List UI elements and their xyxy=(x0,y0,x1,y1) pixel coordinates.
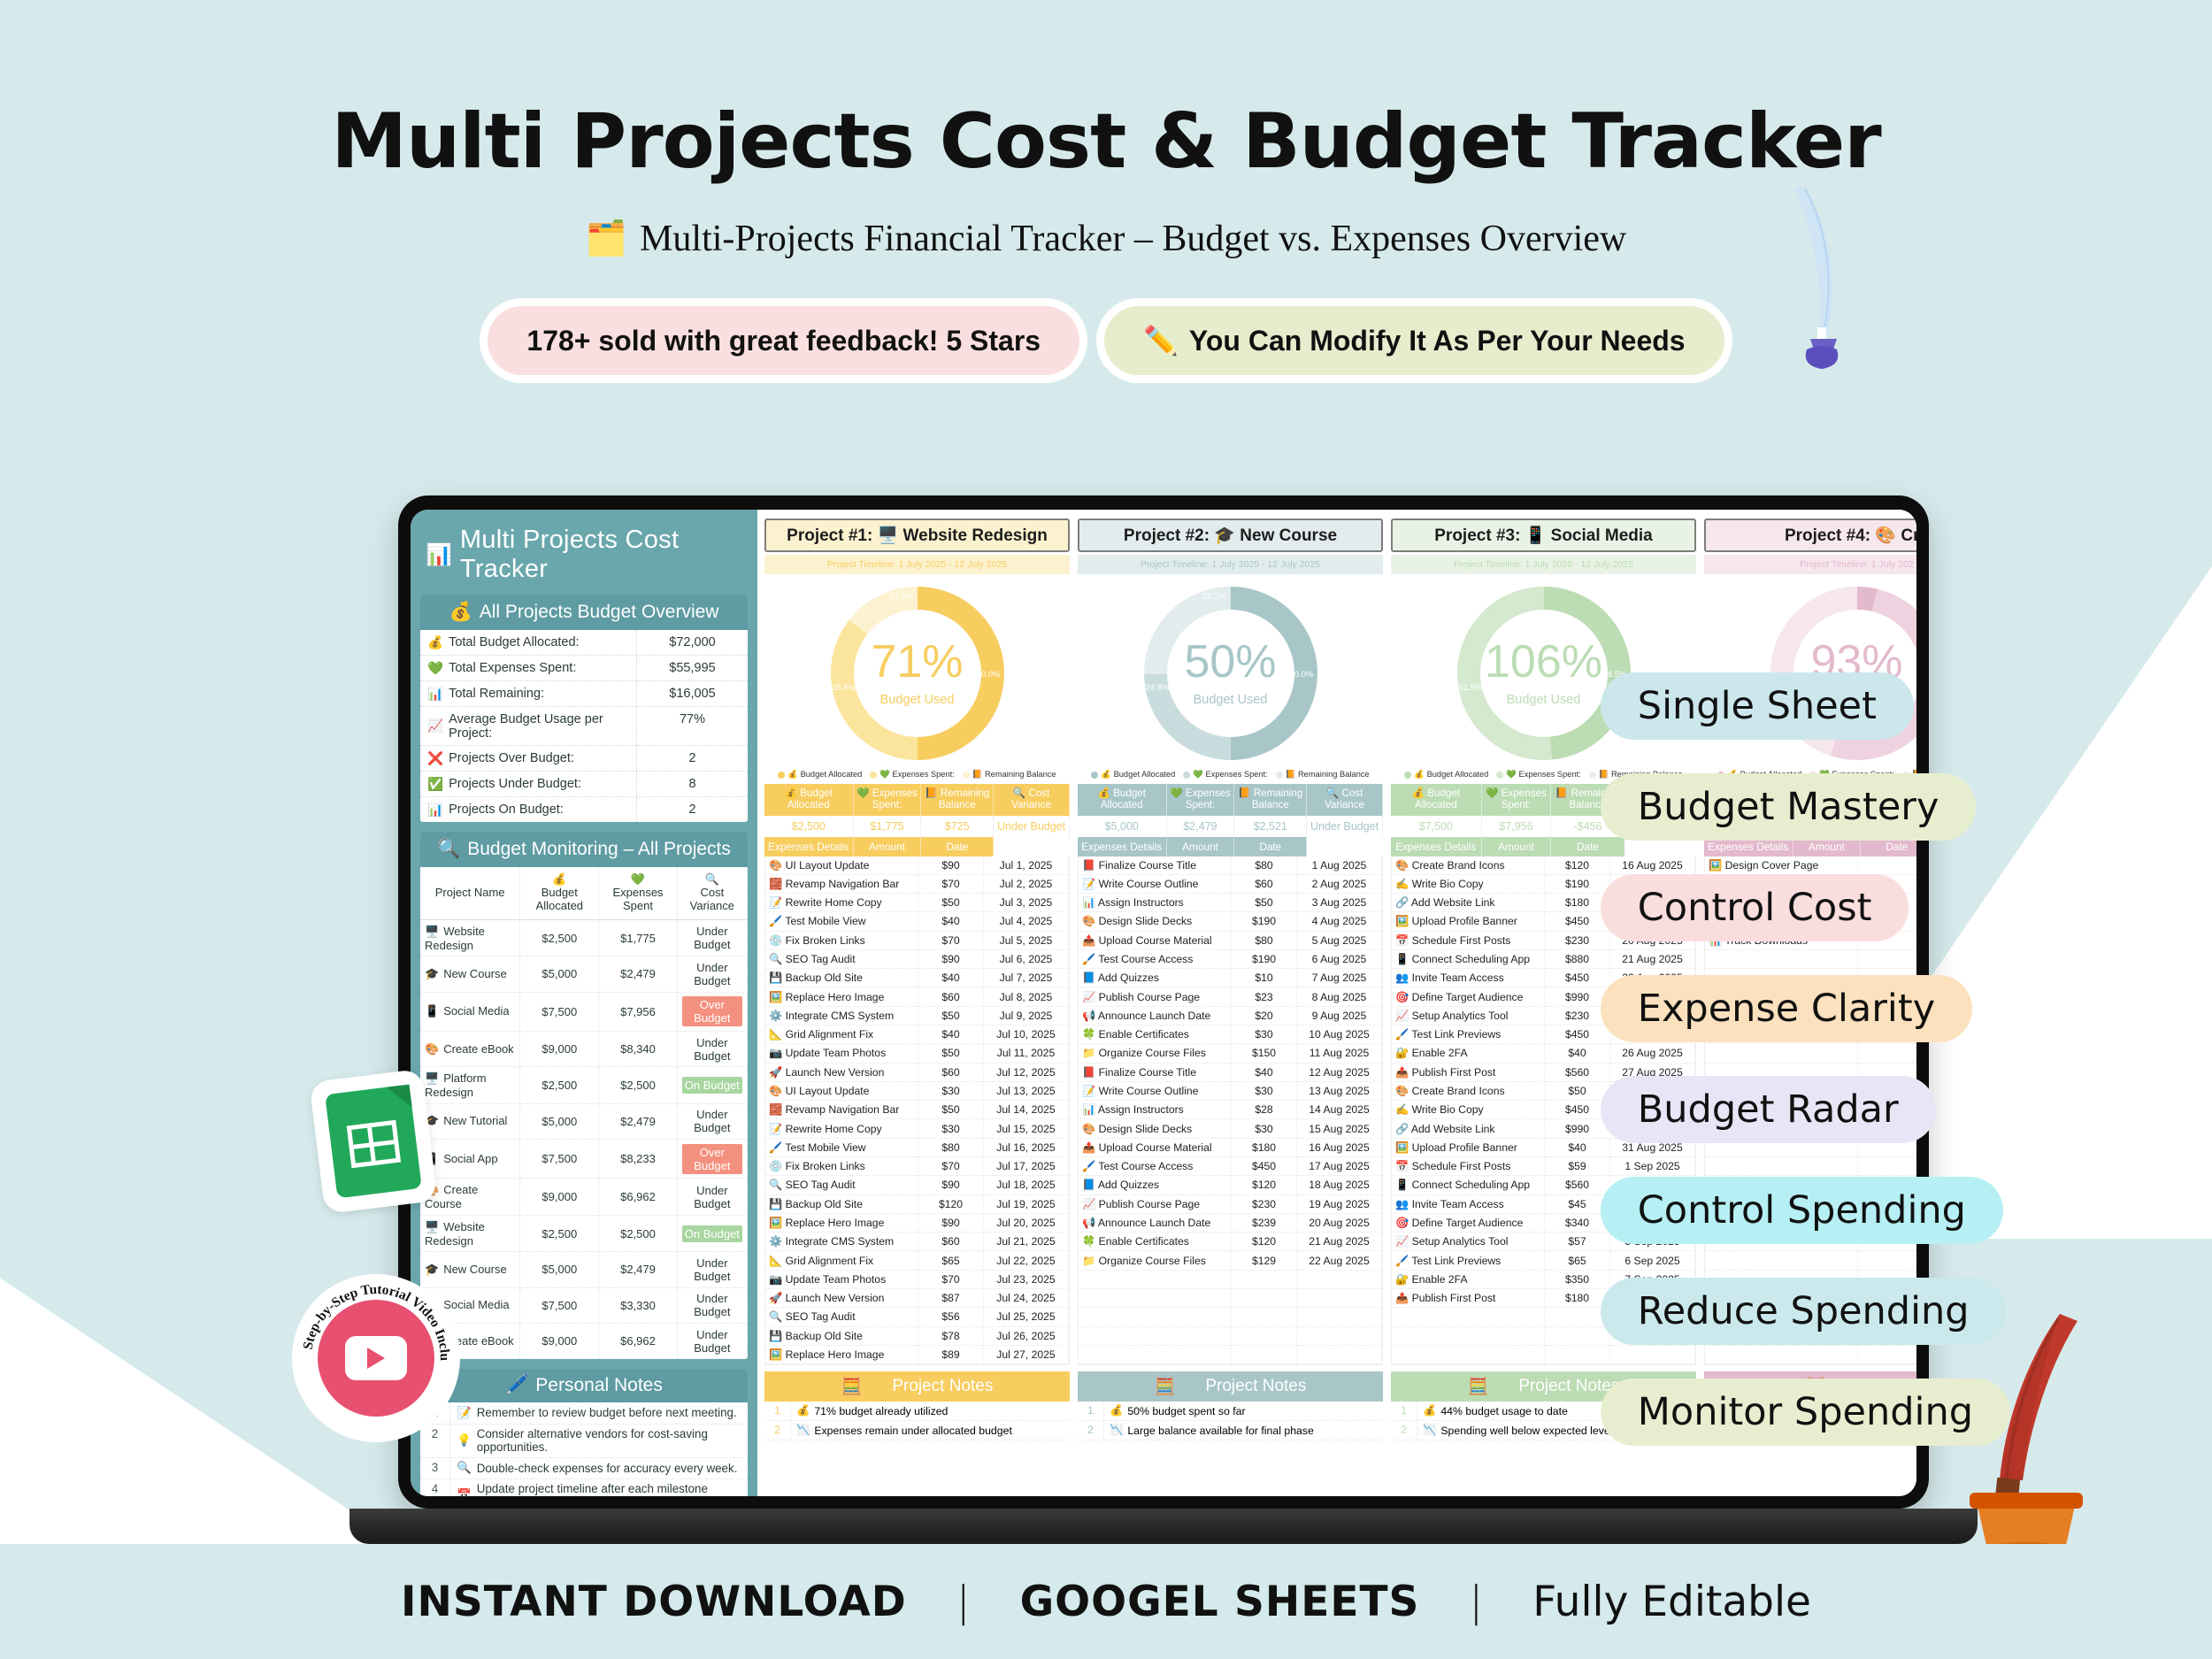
expense-desc: 🎨 Design Slide Decks xyxy=(1079,1119,1232,1138)
expense-row[interactable]: 💿 Fix Broken Links$70Jul 17, 2025 xyxy=(765,1157,1069,1176)
feature-pill: Budget Radar xyxy=(1601,1076,1936,1143)
row-icon: 🖥️ xyxy=(425,925,439,938)
expense-date: 5 Aug 2025 xyxy=(1297,931,1382,949)
expense-row-empty[interactable] xyxy=(1079,1345,1382,1363)
value-allocated: $2,500 xyxy=(764,816,853,837)
legend-item: 💰 Budget Allocated xyxy=(1091,770,1175,780)
expense-icon: 👥 xyxy=(1395,1198,1409,1210)
expense-icon: 📢 xyxy=(1082,1217,1095,1229)
allocated-cell: $2,500 xyxy=(520,919,599,956)
overview-row-value: 77% xyxy=(636,707,748,745)
page-subtitle: 🗂️ Multi-Projects Financial Tracker – Bu… xyxy=(0,218,2212,260)
expense-amount: $70 xyxy=(918,1157,984,1176)
expense-row[interactable]: 📈 Publish Course Page$238 Aug 2025 xyxy=(1079,987,1382,1006)
expense-desc: 📅 Schedule First Posts xyxy=(1392,1157,1545,1176)
expense-amount: $450 xyxy=(1232,1157,1297,1176)
expense-icon: 📘 xyxy=(1082,972,1095,984)
expense-icon: 🖌️ xyxy=(1395,1028,1409,1041)
expense-icon: 🎨 xyxy=(1082,915,1095,927)
expense-date: 15 Aug 2025 xyxy=(1297,1119,1382,1138)
table-row[interactable]: 🎓New Tutorial$5,000$2,479Under Budget xyxy=(420,1103,748,1139)
variance-cell: Under Budget xyxy=(677,1252,747,1287)
expense-date: 2 Aug 2025 xyxy=(1297,874,1382,893)
note-number: 4 xyxy=(420,1479,450,1496)
overview-row-label: 💚Total Expenses Spent: xyxy=(420,656,636,680)
expense-amount: $10 xyxy=(1232,969,1297,987)
google-sheets-grid xyxy=(347,1120,401,1168)
expense-date: Jul 18, 2025 xyxy=(984,1176,1069,1194)
expense-icon: ✍️ xyxy=(1395,878,1409,890)
expense-date: 9 Aug 2025 xyxy=(1297,1006,1382,1025)
variance-cell: On Budget xyxy=(677,1215,747,1251)
project-notes-header: 🧮Project Notes xyxy=(1078,1371,1383,1402)
expense-desc: 💾 Backup Old Site xyxy=(765,969,918,987)
expense-date: 17 Aug 2025 xyxy=(1297,1157,1382,1176)
donut-segment-label: 35.5% xyxy=(833,683,856,693)
project-column-2: Project #2: 🎓 New CourseProject Timeline… xyxy=(1078,518,1383,1496)
expense-row[interactable]: 📊 Assign Instructors$2814 Aug 2025 xyxy=(1079,1101,1382,1119)
expense-row-empty[interactable] xyxy=(1079,1270,1382,1288)
expense-desc: ⚙️ Integrate CMS System xyxy=(765,1233,918,1251)
expense-amount: $56 xyxy=(918,1308,984,1326)
expense-row[interactable]: 📤 Upload Course Material$805 Aug 2025 xyxy=(1079,931,1382,949)
status-badge: Over Budget xyxy=(682,996,742,1026)
tutorial-badge-ring-text: Step-by-Step Tutorial Video Included xyxy=(292,1274,460,1442)
project-note-row[interactable]: 1💰50% budget spent so far xyxy=(1078,1402,1383,1421)
expense-desc: ✍️ Write Bio Copy xyxy=(1392,874,1545,893)
budget-used-percent: 71% xyxy=(871,639,963,685)
project-title: Project #2: 🎓 New Course xyxy=(1078,518,1383,552)
page-title: Multi Projects Cost & Budget Tracker xyxy=(0,97,2212,186)
expense-desc: 🔗 Add Website Link xyxy=(1392,1119,1545,1138)
expense-desc: 📕 Finalize Course Title xyxy=(1079,856,1232,875)
expense-icon: 📈 xyxy=(1082,991,1095,1003)
list-item[interactable]: 1📝Remember to review budget before next … xyxy=(420,1402,748,1424)
project-note-row[interactable]: 1💰71% budget already utilized xyxy=(764,1402,1070,1421)
row-icon: 📊 xyxy=(427,687,443,702)
expense-row[interactable]: 📁 Organize Course Files$12922 Aug 2025 xyxy=(1079,1251,1382,1270)
expense-row[interactable]: 📤 Upload Course Material$18016 Aug 2025 xyxy=(1079,1138,1382,1156)
budget-used-label: Budget Used xyxy=(880,693,955,707)
expense-icon: 🔐 xyxy=(1395,1047,1409,1059)
allocated-cell: $2,500 xyxy=(520,1067,599,1103)
donut-segment-label: 14.5% xyxy=(889,592,913,602)
expense-icon: 📝 xyxy=(769,896,782,909)
expense-row[interactable]: 📘 Add Quizzes$12018 Aug 2025 xyxy=(1079,1176,1382,1194)
expense-date: Jul 5, 2025 xyxy=(984,931,1069,949)
expense-row[interactable]: 🍀 Enable Certificates$12021 Aug 2025 xyxy=(1079,1233,1382,1251)
overview-row: 📊Total Remaining:$16,005 xyxy=(420,681,748,707)
expense-row[interactable]: ⚙️ Integrate CMS System$60Jul 21, 2025 xyxy=(765,1233,1069,1251)
expense-icon: 🖌️ xyxy=(1082,953,1095,965)
expense-amount: $20 xyxy=(1232,1006,1297,1025)
project-column-1: Project #1: 🖥️ Website RedesignProject T… xyxy=(764,518,1070,1496)
google-sheets-icon xyxy=(309,1069,437,1214)
expense-row[interactable]: 📁 Organize Course Files$15011 Aug 2025 xyxy=(1079,1044,1382,1063)
col-remaining-balance: 📙 RemainingBalance xyxy=(921,784,994,816)
expense-desc: 📁 Organize Course Files xyxy=(1079,1251,1232,1270)
sheet-left-pane: 📊 Multi Projects Cost Tracker 💰 All Proj… xyxy=(411,510,757,1496)
table-header-row: Project Name💰Budget Allocated💚Expenses S… xyxy=(420,867,748,919)
table-row[interactable]: 📱Social App$7,500$8,233Over Budget xyxy=(420,1140,748,1179)
expense-date: Jul 23, 2025 xyxy=(984,1270,1069,1288)
abacus-icon: 🧮 xyxy=(1155,1376,1176,1397)
expense-desc: 💿 Fix Broken Links xyxy=(765,931,918,949)
expense-amount: $60 xyxy=(1232,874,1297,893)
expense-amount: $120 xyxy=(1232,1233,1297,1251)
expense-desc: 🍀 Enable Certificates xyxy=(1079,1025,1232,1044)
expense-row[interactable]: 📊 Assign Instructors$503 Aug 2025 xyxy=(1079,894,1382,912)
overview-row-label: ❌Projects Over Budget: xyxy=(420,746,636,771)
expense-date: 11 Aug 2025 xyxy=(1297,1044,1382,1063)
budget-used-percent: 50% xyxy=(1184,639,1276,685)
expense-icon: 🖼️ xyxy=(1395,1141,1409,1154)
expense-row[interactable]: 🖼️ Replace Hero Image$89Jul 27, 2025 xyxy=(765,1345,1069,1363)
expense-date: Jul 3, 2025 xyxy=(984,894,1069,912)
expense-row[interactable]: 📐 Grid Alignment Fix$65Jul 22, 2025 xyxy=(765,1251,1069,1270)
value-variance: Under Budget xyxy=(994,816,1070,837)
status-badge: On Budget xyxy=(682,1077,742,1094)
expense-amount: $50 xyxy=(918,1101,984,1119)
expense-row-empty[interactable] xyxy=(1079,1326,1382,1345)
tutorial-badge-label: Step-by-Step Tutorial Video Included xyxy=(292,1274,452,1362)
table-row[interactable]: 📱Social Media$7,500$7,956Over Budget xyxy=(420,992,748,1031)
expense-icon: 🍀 xyxy=(1082,1028,1095,1041)
expense-amount: $190 xyxy=(1232,912,1297,931)
project-note-number: 2 xyxy=(764,1421,791,1440)
variance-cell: Under Budget xyxy=(677,1179,747,1215)
expense-amount: $89 xyxy=(918,1345,984,1363)
note-icon: 💰 xyxy=(1110,1404,1123,1417)
project-notes-header: 🧮Project Notes xyxy=(764,1371,1070,1402)
expense-desc: 📷 Update Team Photos xyxy=(765,1044,918,1063)
expense-row[interactable]: 🖌️ Test Course Access$1906 Aug 2025 xyxy=(1079,949,1382,968)
expense-row[interactable]: 💾 Backup Old Site$40Jul 7, 2025 xyxy=(765,969,1069,987)
expense-desc: 📈 Publish Course Page xyxy=(1079,1194,1232,1213)
project-timeline: Project Timeline: 1 July 2025 - 12 July … xyxy=(764,555,1070,574)
expense-icon: 📕 xyxy=(1082,1066,1095,1079)
table-row[interactable]: 🖥️Website Redesign$2,500$1,775Under Budg… xyxy=(420,919,748,956)
col-date: Date xyxy=(921,837,994,856)
donut-segment-label: 25.2% xyxy=(1202,592,1226,602)
expense-row[interactable]: 🔍 SEO Tag Audit$90Jul 18, 2025 xyxy=(765,1176,1069,1194)
expense-row-empty[interactable] xyxy=(1079,1288,1382,1307)
expense-desc: 🔐 Enable 2FA xyxy=(1392,1044,1545,1063)
table-row[interactable]: 🎓New Course$5,000$2,479Under Budget xyxy=(420,956,748,992)
expense-icon: 🔍 xyxy=(769,1310,782,1323)
expenses-list: 📕 Finalize Course Title$801 Aug 2025📝 Wr… xyxy=(1078,856,1383,1366)
expense-row[interactable]: 🎨 Design Slide Decks$3015 Aug 2025 xyxy=(1079,1119,1382,1138)
expense-date: 21 Aug 2025 xyxy=(1297,1233,1382,1251)
project-notes-title: Project Notes xyxy=(1205,1377,1306,1396)
expense-row[interactable]: 📝 Write Course Outline$3013 Aug 2025 xyxy=(1079,1081,1382,1100)
expense-desc: 🎨 UI Layout Update xyxy=(765,856,918,875)
expense-icon: 📈 xyxy=(1395,1010,1409,1022)
expense-date: 19 Aug 2025 xyxy=(1297,1194,1382,1213)
expense-date: 22 Aug 2025 xyxy=(1297,1251,1382,1270)
project-name-cell: 📱Social App xyxy=(420,1140,520,1179)
col-budget-allocated: 💰 BudgetAllocated xyxy=(764,784,853,816)
sheet-brand-title: Multi Projects Cost Tracker xyxy=(460,526,744,584)
expense-date: 18 Aug 2025 xyxy=(1297,1176,1382,1194)
col-cost-variance: 🔍 CostVariance xyxy=(994,784,1070,816)
expense-date: Jul 9, 2025 xyxy=(984,1006,1069,1025)
table-row[interactable]: 🖥️Platform Redesign$2,500$2,500On Budget xyxy=(420,1067,748,1103)
abacus-icon: 🧮 xyxy=(1468,1376,1489,1397)
expense-amount: $180 xyxy=(1232,1138,1297,1156)
expense-desc: 📘 Add Quizzes xyxy=(1079,1176,1232,1194)
expense-icon: 🎯 xyxy=(1395,1217,1409,1229)
status-badge: Over Budget xyxy=(682,1144,742,1174)
expense-desc: 🧱 Revamp Navigation Bar xyxy=(765,874,918,893)
expense-desc: 📱 Connect Scheduling App xyxy=(1392,1176,1545,1194)
value-allocated: $5,000 xyxy=(1078,816,1166,837)
note-icon: 💰 xyxy=(1423,1404,1436,1417)
project-icon: 📱 xyxy=(1525,526,1547,545)
modify-badge-text: You Can Modify It As Per Your Needs xyxy=(1189,325,1686,357)
variance-cell: Under Budget xyxy=(677,956,747,992)
expense-row[interactable]: 🧱 Revamp Navigation Bar$50Jul 14, 2025 xyxy=(765,1101,1069,1119)
expense-desc: 🖼️ Replace Hero Image xyxy=(765,1345,918,1363)
expense-date: Jul 17, 2025 xyxy=(984,1157,1069,1176)
expense-amount: $90 xyxy=(918,949,984,968)
feature-pill: Budget Mastery xyxy=(1601,773,1977,841)
note-text: 🔍Double-check expenses for accuracy ever… xyxy=(450,1458,748,1479)
expense-row[interactable]: ⚙️ Integrate CMS System$50Jul 9, 2025 xyxy=(765,1006,1069,1025)
expense-desc: 🔗 Add Website Link xyxy=(1392,894,1545,912)
expense-amount: $30 xyxy=(1232,1081,1297,1100)
expense-row[interactable]: 📕 Finalize Course Title$4012 Aug 2025 xyxy=(1079,1063,1382,1081)
expense-icon: 🎨 xyxy=(769,1085,782,1097)
col-amount: Amount xyxy=(1166,837,1234,856)
expense-row[interactable]: 🔍 SEO Tag Audit$56Jul 25, 2025 xyxy=(765,1308,1069,1326)
project-label: Project #4: xyxy=(1785,526,1870,545)
expense-amount: $23 xyxy=(1232,987,1297,1006)
overview-row-value: $72,000 xyxy=(636,630,748,655)
expense-row[interactable]: 🚀 Launch New Version$60Jul 12, 2025 xyxy=(765,1063,1069,1081)
expense-row[interactable]: 🖌️ Test Mobile View$40Jul 4, 2025 xyxy=(765,912,1069,931)
note-number: 3 xyxy=(420,1458,450,1479)
allocated-cell: $9,000 xyxy=(520,1031,599,1066)
project-icon: 🖥️ xyxy=(878,526,899,545)
project-note-number: 1 xyxy=(764,1402,791,1420)
expense-row[interactable]: 📢 Announce Launch Date$23920 Aug 2025 xyxy=(1079,1213,1382,1232)
expense-desc: 📷 Update Team Photos xyxy=(765,1270,918,1288)
expense-amount: $190 xyxy=(1232,949,1297,968)
feature-pill: Control Cost xyxy=(1601,874,1909,941)
expense-row[interactable]: 🚀 Launch New Version$87Jul 24, 2025 xyxy=(765,1288,1069,1307)
col-expenses-spent: 💚 ExpensesSpent: xyxy=(1481,784,1551,816)
expense-date: Jul 22, 2025 xyxy=(984,1251,1069,1270)
expense-desc: 👥 Invite Team Access xyxy=(1392,1194,1545,1213)
expense-icon: 💾 xyxy=(769,1198,782,1210)
value-variance: Under Budget xyxy=(1307,816,1383,837)
table-row[interactable]: 🎓New Course$5,000$2,479Under Budget xyxy=(420,1252,748,1287)
expense-icon: 🧱 xyxy=(769,1103,782,1116)
donut-segment-label: 24.8% xyxy=(1146,683,1170,693)
expense-row[interactable]: 🖌️ Test Course Access$45017 Aug 2025 xyxy=(1079,1157,1382,1176)
row-icon: 📱 xyxy=(425,1004,439,1018)
expense-desc: ⚙️ Integrate CMS System xyxy=(765,1006,918,1025)
project-note-number: 2 xyxy=(1078,1421,1104,1440)
expense-icon: 💾 xyxy=(769,972,782,984)
expense-row[interactable]: 📕 Finalize Course Title$801 Aug 2025 xyxy=(1079,856,1382,875)
expense-amount: $30 xyxy=(1232,1119,1297,1138)
expense-icon: 🖼️ xyxy=(769,1217,782,1229)
budget-donut-chart: 50.0%24.8%25.2%50%Budget Used xyxy=(1078,578,1383,768)
personal-notes-title: Personal Notes xyxy=(535,1375,663,1396)
expense-date: Jul 10, 2025 xyxy=(984,1025,1069,1044)
expense-icon: 🔍 xyxy=(769,1179,782,1191)
table-row[interactable]: 🎨Create eBook$9,000$6,962Under Budget xyxy=(420,1323,748,1358)
expense-amount: $50 xyxy=(918,1006,984,1025)
overview-row-value: 8 xyxy=(636,772,748,796)
project-title: Project #3: 📱 Social Media xyxy=(1391,518,1696,552)
expense-row[interactable]: 📈 Publish Course Page$23019 Aug 2025 xyxy=(1079,1194,1382,1213)
project-note-row[interactable]: 2📉Large balance available for final phas… xyxy=(1078,1421,1383,1440)
expense-icon: 🍀 xyxy=(1082,1235,1095,1248)
expense-row[interactable]: 📐 Grid Alignment Fix$40Jul 10, 2025 xyxy=(765,1025,1069,1044)
row-icon: ❌ xyxy=(427,751,443,766)
expense-row[interactable]: 🧱 Revamp Navigation Bar$70Jul 2, 2025 xyxy=(765,874,1069,893)
expense-date: Jul 2, 2025 xyxy=(984,874,1069,893)
value-spent: $1,775 xyxy=(853,816,921,837)
legend-item: 💚 Expenses Spent: xyxy=(870,770,954,780)
project-title: Project #4: 🎨 Cre xyxy=(1704,518,1916,552)
expense-desc: 📈 Setup Analytics Tool xyxy=(1392,1006,1545,1025)
expense-row[interactable]: 📝 Rewrite Home Copy$30Jul 15, 2025 xyxy=(765,1119,1069,1138)
expense-row[interactable]: 📷 Update Team Photos$70Jul 23, 2025 xyxy=(765,1270,1069,1288)
project-note-text: 📉Large balance available for final phase xyxy=(1104,1421,1383,1440)
expense-amount: $70 xyxy=(918,1270,984,1288)
expense-date: 7 Aug 2025 xyxy=(1297,969,1382,987)
expense-date: Jul 7, 2025 xyxy=(984,969,1069,987)
expense-icon: ⚙️ xyxy=(769,1010,782,1022)
expense-row[interactable]: 📘 Add Quizzes$107 Aug 2025 xyxy=(1079,969,1382,987)
expense-row[interactable]: 📷 Update Team Photos$50Jul 11, 2025 xyxy=(765,1044,1069,1063)
pen-icon: 🖊️ xyxy=(505,1375,528,1396)
expense-row[interactable]: 🎨 Design Slide Decks$1904 Aug 2025 xyxy=(1079,912,1382,931)
expenses-list: 🎨 UI Layout Update$90Jul 1, 2025🧱 Revamp… xyxy=(764,856,1070,1366)
expense-date: 20 Aug 2025 xyxy=(1297,1213,1382,1232)
expense-row[interactable]: 💿 Fix Broken Links$70Jul 5, 2025 xyxy=(765,931,1069,949)
expense-desc: 🎨 Create Brand Icons xyxy=(1392,856,1545,875)
legend-item: 💰 Budget Allocated xyxy=(1404,770,1488,780)
expense-desc: 💿 Fix Broken Links xyxy=(765,1157,918,1176)
monitoring-card-header: 🔍 Budget Monitoring – All Projects xyxy=(420,832,748,867)
expense-row[interactable]: 📝 Rewrite Home Copy$50Jul 3, 2025 xyxy=(765,894,1069,912)
legend-item: 💚 Expenses Spent: xyxy=(1496,770,1580,780)
project-note-row[interactable]: 2📉Expenses remain under allocated budget xyxy=(764,1421,1070,1440)
expense-date: 1 Aug 2025 xyxy=(1297,856,1382,875)
footer-google-sheets: GOOGEL SHEETS xyxy=(1020,1578,1420,1626)
list-item[interactable]: 3🔍Double-check expenses for accuracy eve… xyxy=(420,1458,748,1479)
expense-row[interactable]: 📝 Write Course Outline$602 Aug 2025 xyxy=(1079,874,1382,893)
monitoring-card-title: Budget Monitoring – All Projects xyxy=(467,839,731,860)
expense-desc: 📐 Grid Alignment Fix xyxy=(765,1025,918,1044)
expense-desc: 📝 Rewrite Home Copy xyxy=(765,894,918,912)
table-row[interactable]: 📱Social Media$7,500$3,330Under Budget xyxy=(420,1287,748,1323)
row-icon: ✅ xyxy=(427,777,443,792)
expense-amount: $65 xyxy=(918,1251,984,1270)
expense-icon: 🖌️ xyxy=(1395,1255,1409,1267)
allocated-cell: $7,500 xyxy=(520,1140,599,1179)
expense-amount: $70 xyxy=(918,931,984,949)
list-item[interactable]: 2💡Consider alternative vendors for cost-… xyxy=(420,1425,748,1458)
expense-icon: 📕 xyxy=(1082,859,1095,872)
expense-date: Jul 13, 2025 xyxy=(984,1081,1069,1100)
table-row[interactable]: 🎨Create Course$9,000$6,962Under Budget xyxy=(420,1179,748,1215)
expense-row[interactable]: 🎨 UI Layout Update$90Jul 1, 2025 xyxy=(765,856,1069,875)
expense-row[interactable]: 🖼️ Replace Hero Image$90Jul 20, 2025 xyxy=(765,1213,1069,1232)
expense-icon: 🔗 xyxy=(1395,896,1409,909)
expense-desc: ✍️ Write Bio Copy xyxy=(1392,1101,1545,1119)
table-row[interactable]: 🖥️Website Redesign$2,500$2,500On Budget xyxy=(420,1215,748,1251)
monitoring-col-header: 🔍Cost Variance xyxy=(677,867,747,919)
project-note-number: 2 xyxy=(1391,1421,1417,1440)
col-date: Date xyxy=(1234,837,1307,856)
badge-row: 178+ sold with great feedback! 5 Stars ✏… xyxy=(0,306,2212,375)
expense-row[interactable]: 🖼️ Replace Hero Image$60Jul 8, 2025 xyxy=(765,987,1069,1006)
legend-item: 💰 Budget Allocated xyxy=(778,770,862,780)
expense-row[interactable]: 💾 Backup Old Site$78Jul 26, 2025 xyxy=(765,1326,1069,1345)
footer-separator-1: | xyxy=(956,1578,971,1626)
project-note-number: 1 xyxy=(1391,1402,1417,1420)
sales-badge-text: 178+ sold with great feedback! 5 Stars xyxy=(526,325,1041,357)
expense-amount: $120 xyxy=(918,1194,984,1213)
expense-row[interactable]: 🎨 UI Layout Update$30Jul 13, 2025 xyxy=(765,1081,1069,1100)
expense-amount: $50 xyxy=(1232,894,1297,912)
overview-row-label: 📊Projects On Budget: xyxy=(420,797,636,822)
expense-desc: 🖌️ Test Course Access xyxy=(1079,949,1232,968)
project-label: Project #2: xyxy=(1124,526,1210,545)
magnifier-icon: 🔍 xyxy=(437,839,460,860)
expense-date: Jul 26, 2025 xyxy=(984,1326,1069,1345)
expense-date: Jul 21, 2025 xyxy=(984,1233,1069,1251)
spent-cell: $8,340 xyxy=(599,1031,677,1066)
budget-used-label: Budget Used xyxy=(1507,693,1581,707)
expense-date: Jul 14, 2025 xyxy=(984,1101,1069,1119)
expense-row-empty[interactable] xyxy=(1079,1308,1382,1326)
footer-separator-2: | xyxy=(1469,1578,1483,1626)
expense-row[interactable]: 📢 Announce Launch Date$209 Aug 2025 xyxy=(1079,1006,1382,1025)
expense-row[interactable]: 🍀 Enable Certificates$3010 Aug 2025 xyxy=(1079,1025,1382,1044)
note-text: 📅Update project timeline after each mile… xyxy=(450,1479,748,1496)
legend-item: 📙 Remaining Balance xyxy=(963,770,1056,780)
donut-ring: 50.0%24.8%25.2%50%Budget Used xyxy=(1144,587,1317,760)
list-item[interactable]: 4📅Update project timeline after each mil… xyxy=(420,1479,748,1496)
donut-ring: 50.0%35.5%14.5%71%Budget Used xyxy=(831,587,1004,760)
expense-icon: 📅 xyxy=(1395,1160,1409,1172)
table-row[interactable]: 🎨Create eBook$9,000$8,340Under Budget xyxy=(420,1031,748,1066)
variance-cell: Under Budget xyxy=(677,1323,747,1358)
project-name-cell: 🖥️Website Redesign xyxy=(420,919,520,956)
legend-item: 📙 Remaining Balance xyxy=(1276,770,1370,780)
project-note-text: 💰71% budget already utilized xyxy=(791,1402,1070,1420)
spent-cell: $6,962 xyxy=(599,1179,677,1215)
expense-row[interactable]: 🖌️ Test Mobile View$80Jul 16, 2025 xyxy=(765,1138,1069,1156)
col-expenses-details: Expenses Details xyxy=(764,837,853,856)
summary-values-row: $2,500$1,775$725Under Budget xyxy=(764,816,1070,837)
footer-bar: INSTANT DOWNLOAD | GOOGEL SHEETS | Fully… xyxy=(0,1544,2212,1659)
spent-cell: $2,500 xyxy=(599,1067,677,1103)
expense-icon: 🖌️ xyxy=(1082,1160,1095,1172)
variance-cell: Under Budget xyxy=(677,1287,747,1323)
expense-row[interactable]: 🔍 SEO Tag Audit$90Jul 6, 2025 xyxy=(765,949,1069,968)
expense-amount: $30 xyxy=(918,1081,984,1100)
expense-date: 12 Aug 2025 xyxy=(1297,1063,1382,1081)
expense-row[interactable]: 💾 Backup Old Site$120Jul 19, 2025 xyxy=(765,1194,1069,1213)
